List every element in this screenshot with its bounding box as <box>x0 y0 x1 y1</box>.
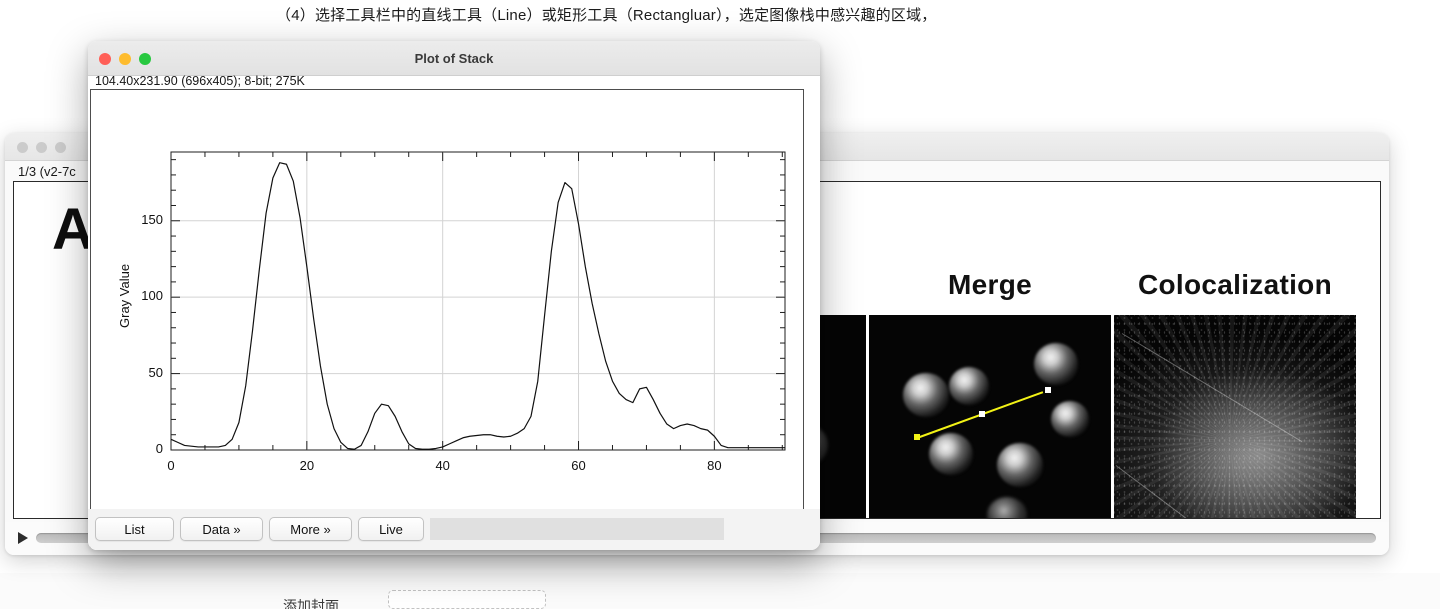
panel-title-colocalization: Colocalization <box>1114 269 1356 301</box>
play-icon[interactable] <box>18 532 28 544</box>
more-button[interactable]: More » <box>269 517 352 541</box>
roi-handle-start[interactable] <box>914 434 920 440</box>
plot-status-field[interactable] <box>430 518 724 540</box>
x-tick-label: 80 <box>694 458 734 473</box>
profile-plot-svg <box>91 90 805 550</box>
x-tick-label: 20 <box>287 458 327 473</box>
y-tick-label: 100 <box>123 288 163 303</box>
x-tick-label: 60 <box>559 458 599 473</box>
data-button[interactable]: Data » <box>180 517 263 541</box>
list-button[interactable]: List <box>95 517 174 541</box>
screen-root: （4）选择工具栏中的直线工具（Line）或矩形工具（Rectangluar），选… <box>0 0 1440 609</box>
plot-titlebar[interactable]: Plot of Stack <box>88 41 820 76</box>
plot-canvas[interactable]: Gray Value Distance (pixels) 05010015002… <box>90 89 804 550</box>
y-tick-label: 0 <box>123 441 163 456</box>
y-tick-label: 50 <box>123 365 163 380</box>
y-tick-label: 150 <box>123 212 163 227</box>
add-cover-label: 添加封面 <box>283 596 339 609</box>
plot-toolbar[interactable]: List Data » More » Live <box>88 509 820 550</box>
cover-dropzone[interactable] <box>388 590 546 609</box>
x-tick-label: 40 <box>423 458 463 473</box>
doc-footer-background <box>0 573 1440 609</box>
doc-paragraph-line-1: （4）选择工具栏中的直线工具（Line）或矩形工具（Rectangluar），选… <box>276 4 937 25</box>
microscopy-panel-colocalization[interactable]: PCC = 0.92 <box>1114 315 1356 519</box>
panel-title-merge: Merge <box>869 269 1111 301</box>
close-icon[interactable] <box>17 142 28 153</box>
maximize-icon[interactable] <box>55 142 66 153</box>
plot-info-line: 104.40x231.90 (696x405); 8-bit; 275K <box>95 74 305 88</box>
plot-window-title: Plot of Stack <box>88 51 820 66</box>
microscopy-panel-merge[interactable]: 20 μm <box>869 315 1111 519</box>
x-tick-label: 0 <box>151 458 191 473</box>
roi-handle-end[interactable] <box>1045 387 1051 393</box>
roi-handle-mid[interactable] <box>979 411 985 417</box>
image-stack-traffic-lights[interactable] <box>17 142 66 153</box>
plot-of-stack-window[interactable]: Plot of Stack 104.40x231.90 (696x405); 8… <box>88 41 820 550</box>
coloc-noise-texture <box>1114 315 1356 519</box>
minimize-icon[interactable] <box>36 142 47 153</box>
live-button[interactable]: Live <box>358 517 424 541</box>
image-stack-info: 1/3 (v2-7c <box>18 164 76 179</box>
